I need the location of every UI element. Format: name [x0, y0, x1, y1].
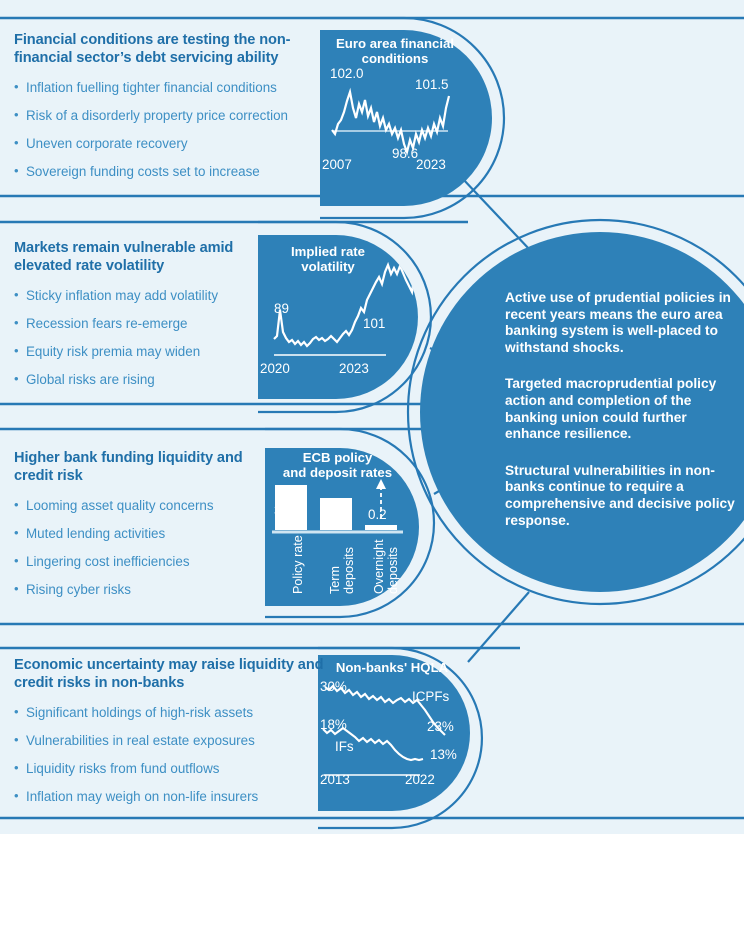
chart-4-ifs-end: 13%	[430, 748, 457, 762]
bullet-item: Risk of a disorderly property price corr…	[14, 108, 344, 124]
panel-title: Higher bank funding liquidity and credit…	[14, 450, 264, 485]
conclusion-paragraph: Structural vulnerabilities in non-banks …	[505, 463, 739, 529]
bullet-item: Inflation may weigh on non-life insurers	[14, 789, 344, 805]
panel-title: Economic uncertainty may raise liquidity…	[14, 657, 344, 692]
chart-3-value-policy-rate: 3.25	[274, 504, 300, 518]
bullet-item: Uneven corporate recovery	[14, 136, 344, 152]
bullet-item: Vulnerabilities in real estate exposures	[14, 733, 344, 749]
panel-financial-conditions: Financial conditions are testing the non…	[14, 32, 344, 192]
conclusion-text: Active use of prudential policies in rec…	[505, 290, 739, 529]
chart-4-icpfs-end: 23%	[427, 720, 454, 734]
chart-1-end-value: 101.5	[415, 78, 449, 92]
chart-2-title-line2: volatility	[301, 259, 355, 274]
chart-4-x-start: 2013	[320, 773, 350, 787]
chart-3-value-term-deposits: 2.4	[324, 515, 343, 529]
chart-3-title-line1: ECB policy	[303, 450, 373, 465]
chart-3-category-term-deposits: Termdeposits	[329, 547, 356, 594]
chart-1-x-start: 2007	[322, 158, 352, 172]
chart-1-peak-value: 102.0	[330, 67, 364, 81]
infographic-canvas: Financial conditions are testing the non…	[0, 0, 744, 834]
chart-3-category-policy-rate: Policy rate	[292, 535, 305, 594]
chart-1-title-line1: Euro area financial	[336, 36, 454, 51]
bullet-item: Significant holdings of high-risk assets	[14, 705, 344, 721]
connector-3	[434, 474, 468, 494]
chart-2-title: Implied rate volatility	[258, 244, 398, 274]
chart-2-labels: Implied rate volatility 89 101 2020 2023	[258, 244, 398, 404]
bullet-item: Inflation fuelling tighter financial con…	[14, 80, 344, 96]
panel-title: Markets remain vulnerable amid elevated …	[14, 240, 264, 275]
chart-4-ifs-label: IFs	[335, 740, 354, 754]
conclusion-paragraph: Active use of prudential policies in rec…	[505, 290, 739, 356]
bullet-item: Sovereign funding costs set to increase	[14, 164, 344, 180]
connector-1	[462, 178, 530, 250]
chart-3-title: ECB policy and deposit rates	[265, 450, 410, 480]
chart-3-category-overnight-deposits: Overnightdeposits	[373, 539, 400, 594]
chart-4-x-end: 2022	[405, 773, 435, 787]
connector-2	[430, 348, 470, 368]
chart-4-icpfs-label: ICPFs	[412, 690, 449, 704]
chart-4-ifs-start: 18%	[320, 718, 347, 732]
chart-2-x-start: 2020	[260, 362, 290, 376]
chart-3-title-line2: and deposit rates	[283, 465, 392, 480]
chart-1-trough-value: 98.6	[392, 147, 418, 161]
panel-title: Financial conditions are testing the non…	[14, 32, 344, 67]
chart-2-title-line1: Implied rate	[291, 244, 365, 259]
chart-4-title: Non-banks' HQLA	[318, 660, 466, 675]
connector-4	[468, 592, 529, 662]
chart-4-labels: Non-banks' HQLA 30% ICPFs 23% 18% IFs 13…	[318, 660, 466, 815]
infographic-root: Financial conditions are testing the non…	[0, 0, 744, 945]
chart-1-title: Euro area financial conditions	[320, 36, 470, 66]
chart-2-x-end: 2023	[339, 362, 369, 376]
chart-1-x-end: 2023	[416, 158, 446, 172]
conclusion-paragraph: Targeted macroprudential policy action a…	[505, 376, 739, 442]
panel-bullets: Significant holdings of high-risk assets…	[14, 705, 344, 805]
chart-3-value-overnight-deposits: 0.2	[368, 508, 387, 522]
chart-2-end-value: 101	[363, 317, 385, 331]
chart-1-title-line2: conditions	[362, 51, 429, 66]
chart-4-icpfs-start: 30%	[320, 680, 347, 694]
chart-2-start-value: 89	[274, 302, 289, 316]
panel-bullets: Inflation fuelling tighter financial con…	[14, 80, 344, 180]
bullet-item: Liquidity risks from fund outflows	[14, 761, 344, 777]
panel-non-banks: Economic uncertainty may raise liquidity…	[14, 657, 344, 817]
chart-3-labels: ECB policy and deposit rates 3.25 2.4 0.…	[265, 450, 410, 610]
chart-1-labels: Euro area financial conditions 102.0 101…	[320, 36, 470, 206]
